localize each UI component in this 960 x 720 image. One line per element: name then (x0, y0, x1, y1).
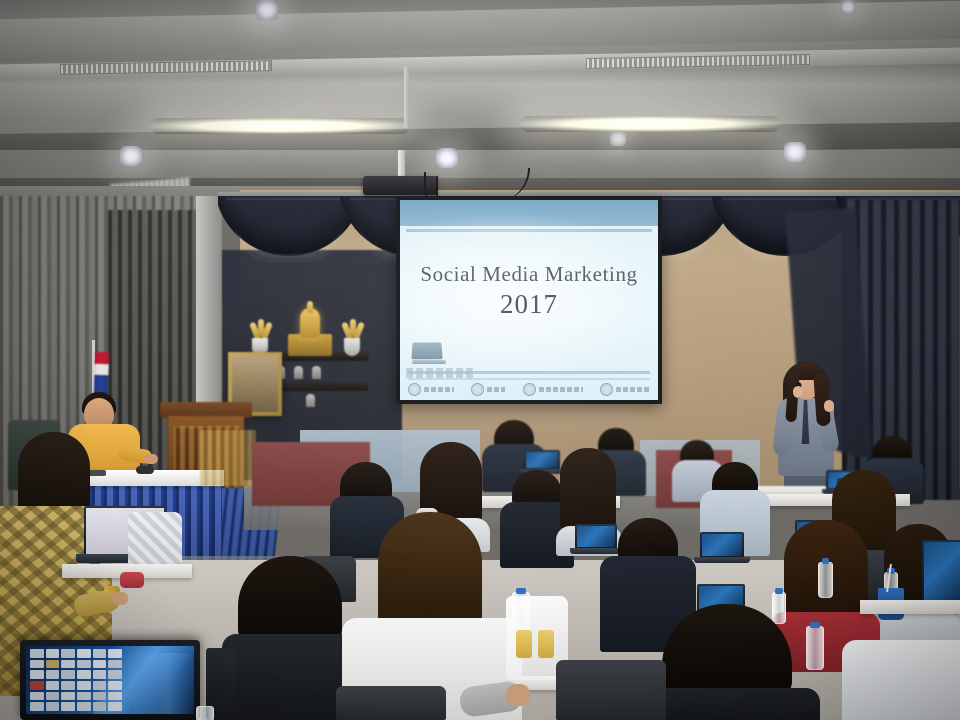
slide-logo-1 (408, 383, 454, 396)
attendee-foreground-man-right (640, 604, 820, 720)
logo-label (487, 387, 505, 392)
handbag (128, 512, 182, 566)
desk (860, 600, 960, 614)
bottle-cap (822, 558, 830, 564)
downlight-icon (610, 132, 626, 146)
ceiling-beam (0, 1, 960, 57)
downlight-icon (120, 146, 142, 166)
buddha-flame-icon (307, 301, 313, 313)
hand (144, 454, 158, 464)
logo-label (616, 387, 650, 392)
desktop-icon-grid[interactable] (30, 649, 122, 711)
hair (238, 556, 342, 642)
hair (340, 462, 392, 500)
slide-footer-rule (408, 371, 650, 374)
fluorescent-light (520, 116, 780, 132)
lotus-cup (344, 338, 360, 356)
slide-footer-rule (408, 378, 650, 380)
laptop-screen (702, 534, 742, 556)
slide-logo-3 (523, 383, 583, 396)
slide-title: Social Media Marketing (400, 262, 658, 287)
red-item (120, 572, 144, 588)
laptop-lid (700, 532, 744, 558)
hair (512, 470, 562, 506)
downlight-icon (256, 0, 278, 20)
ceiling (0, 0, 960, 200)
slide-logo-4 (600, 383, 650, 396)
projection-screen: Social Media Marketing 2017 (396, 196, 662, 404)
downlight-icon (436, 148, 458, 168)
trophy (306, 394, 315, 407)
hair (494, 420, 534, 446)
logo-label (539, 387, 583, 392)
laptop-lid (922, 540, 960, 606)
hair (662, 604, 792, 696)
gold-valance (200, 430, 256, 486)
downlight-icon (840, 0, 856, 14)
slide-year: 2017 (400, 289, 658, 320)
chair (556, 660, 666, 720)
snack-item (516, 630, 532, 658)
laptop (694, 532, 750, 566)
laptop-lid (524, 450, 560, 470)
hair (680, 440, 714, 462)
logo-mark-icon (600, 383, 613, 396)
ceiling-post (404, 66, 410, 128)
torso (640, 688, 820, 720)
hand (506, 684, 530, 706)
logo-mark-icon (523, 383, 536, 396)
slide-laptop-base (412, 360, 446, 364)
laptop-screen (924, 542, 960, 604)
laptop-screen[interactable] (26, 646, 194, 714)
presenter-hand (824, 400, 834, 412)
hair (872, 436, 912, 460)
slide-title-block: Social Media Marketing 2017 (400, 262, 658, 320)
laptop-base (694, 557, 750, 563)
attendee-foreground-right (842, 616, 960, 720)
slide-logo-2 (471, 383, 505, 396)
laptop-screen (526, 452, 558, 468)
foreground-laptop[interactable] (20, 640, 200, 720)
chair (336, 686, 446, 720)
downlight-icon (784, 142, 806, 162)
projected-slide: Social Media Marketing 2017 (400, 200, 658, 400)
trophy (312, 366, 321, 379)
logo-label (424, 387, 454, 392)
hand (112, 592, 128, 605)
lotus-candle-holder (252, 322, 270, 356)
wallpaper-highlight (124, 653, 194, 714)
logo-mark-icon (471, 383, 484, 396)
logo-mark-icon (408, 383, 421, 396)
water-bottle (818, 562, 833, 598)
torso (842, 640, 960, 720)
slide-laptop-icon (412, 342, 446, 364)
trophy (294, 366, 303, 379)
lotus-candle-holder (344, 322, 362, 356)
bottle-cap (775, 588, 782, 594)
computer-mouse (136, 466, 154, 474)
fluorescent-light (150, 118, 410, 134)
presenter-hand (793, 386, 803, 398)
water-bottle (196, 706, 214, 720)
snack-item (538, 630, 554, 658)
slide-laptop-lid (411, 343, 442, 360)
photo-scene: Social Media Marketing 2017 (0, 0, 960, 720)
slide-logo-row (408, 381, 650, 398)
